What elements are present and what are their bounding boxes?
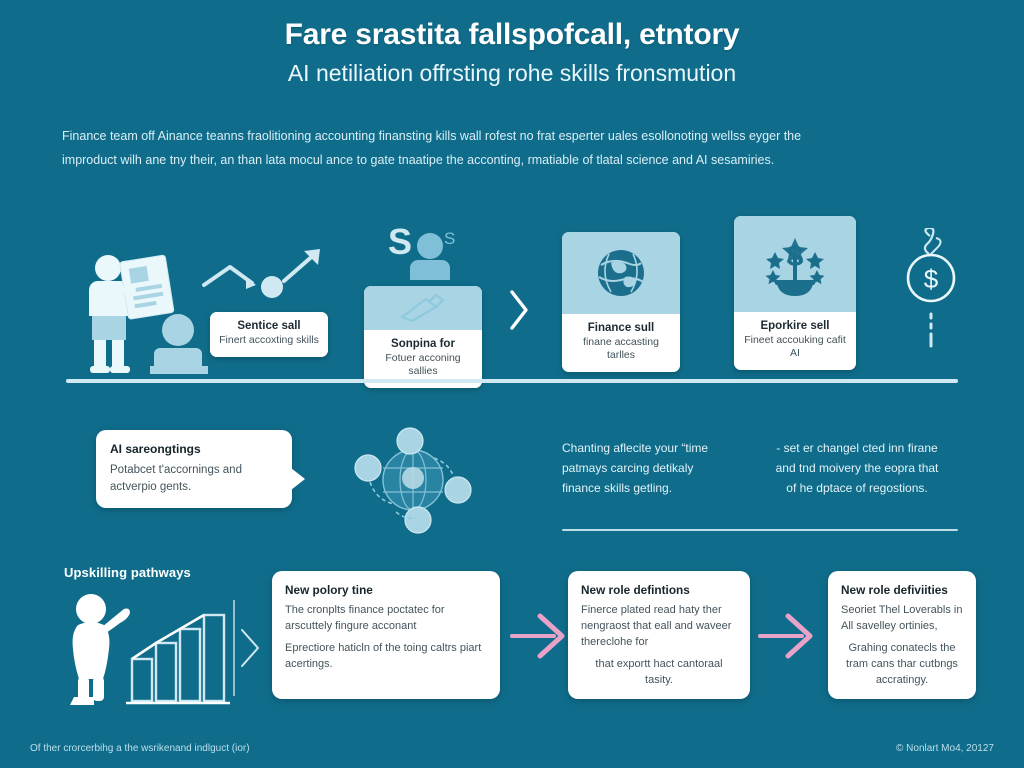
divider-top bbox=[66, 379, 958, 383]
infographic-canvas: Fare srastita fallspofcall, etntory AI n… bbox=[0, 0, 1024, 768]
divider-mid bbox=[562, 529, 958, 531]
footer-copyright: © Nonlart Mo4, 20127 bbox=[896, 743, 994, 754]
journey-card-4-image: $ bbox=[734, 216, 856, 312]
insight-bubble[interactable]: AI sareongtings Potabcet t'accornings an… bbox=[96, 430, 292, 508]
money-coin-dollar-icon: $ bbox=[898, 228, 968, 358]
upskilling-card-2-title: New role defintions bbox=[581, 583, 737, 597]
svg-text:$: $ bbox=[787, 240, 804, 273]
insight-col2-line1: - set er changel cted inn firane bbox=[752, 438, 962, 458]
chevron-right-thin-icon bbox=[232, 600, 262, 696]
intro-line-1: Finance team off Ainance teanns fraoliti… bbox=[62, 124, 964, 148]
upskilling-card-2-para-1: Finerce plated read haty ther nengraost … bbox=[581, 602, 737, 650]
intro-paragraph: Finance team off Ainance teanns fraoliti… bbox=[62, 124, 964, 172]
upskilling-card-1-para-1: The cronplts finance poctatec for arscut… bbox=[285, 602, 487, 634]
person-with-bar-chart-icon bbox=[62, 585, 234, 707]
journey-card-4-body: Eporkire sell Fineet accouking cafit AI bbox=[734, 312, 856, 370]
journey-card-2-desc: Fotuer acconing sallies bbox=[370, 352, 476, 378]
journey-card-1[interactable]: Sentice sall Finert accoxting skills bbox=[210, 312, 328, 357]
globe-icon bbox=[591, 243, 651, 303]
insight-bubble-desc: Potabcet t'accornings and actverpio gent… bbox=[110, 462, 278, 496]
svg-text:S: S bbox=[444, 229, 455, 248]
person-at-desk-icon bbox=[140, 312, 218, 380]
journey-card-3-body: Finance sull finane accasting tarlles bbox=[562, 314, 680, 372]
journey-card-3-desc: finane accasting tarlles bbox=[568, 336, 674, 362]
journey-card-2[interactable]: Sonpina for Fotuer acconing sallies bbox=[364, 286, 482, 388]
svg-text:$: $ bbox=[924, 264, 939, 294]
journey-card-2-image bbox=[364, 286, 482, 330]
upskilling-card-2[interactable]: New role defintions Finerce plated read … bbox=[568, 571, 750, 699]
upskilling-card-3-title: New role defiviities bbox=[841, 583, 963, 597]
upskilling-card-1[interactable]: New polory tine The cronplts finance poc… bbox=[272, 571, 500, 699]
globe-network-icon bbox=[348, 424, 478, 536]
chevron-right-icon-1 bbox=[508, 288, 530, 332]
header-block: Fare srastita fallspofcall, etntory AI n… bbox=[0, 18, 1024, 87]
intro-line-2: improduct wilh ane tny their, an than la… bbox=[62, 148, 964, 172]
journey-card-3-image bbox=[562, 232, 680, 314]
journey-card-3[interactable]: Finance sull finane accasting tarlles bbox=[562, 232, 680, 372]
upskilling-card-2-para-2: that exportt hact cantoraal tasity. bbox=[581, 656, 737, 688]
insight-bubble-title: AI sareongtings bbox=[110, 442, 278, 456]
money-plant-icon: $ bbox=[759, 226, 831, 302]
insight-column-2: - set er changel cted inn firane and tnd… bbox=[752, 438, 962, 498]
page-subtitle: AI netiliation offrsting rohe skills fro… bbox=[0, 60, 1024, 87]
insight-column-1: Chanting aflecite your “time patmays car… bbox=[562, 438, 747, 498]
journey-card-1-desc: Finert accoxting skills bbox=[216, 334, 322, 347]
journey-card-4[interactable]: $ Eporkire sell Fineet accouking cafit A… bbox=[734, 216, 856, 370]
upskilling-card-1-para-2: Eprectiore haticln of the toing caltrs p… bbox=[285, 640, 487, 672]
person-writing-icon: S S bbox=[388, 222, 488, 292]
insight-col1-line2: patmays carcing detikaly bbox=[562, 458, 747, 478]
journey-card-4-desc: Fineet accouking cafit AI bbox=[740, 334, 850, 360]
upskilling-card-1-title: New polory tine bbox=[285, 583, 487, 597]
journey-card-4-title: Eporkire sell bbox=[740, 320, 850, 332]
trend-arrow-icon bbox=[200, 245, 328, 315]
page-title: Fare srastita fallspofcall, etntory bbox=[0, 18, 1024, 52]
journey-card-1-title: Sentice sall bbox=[216, 320, 322, 332]
journey-card-2-title: Sonpina for bbox=[370, 338, 476, 350]
insight-col1-line1: Chanting aflecite your “time bbox=[562, 438, 747, 458]
upskilling-card-3[interactable]: New role defiviities Seoriet Thel Lovera… bbox=[828, 571, 976, 699]
pen-writing-icon bbox=[396, 293, 450, 323]
upskilling-label: Upskilling pathways bbox=[64, 565, 191, 580]
journey-card-1-body: Sentice sall Finert accoxting skills bbox=[210, 312, 328, 357]
insight-col2-line3: of he dptace of regostions. bbox=[752, 478, 962, 498]
svg-text:S: S bbox=[388, 222, 412, 262]
arrow-right-pink-icon-2 bbox=[758, 608, 814, 664]
insight-col2-line2: and tnd moivery the eopra that bbox=[752, 458, 962, 478]
upskilling-card-3-para-1: Seoriet Thel Loverabls in All savelley o… bbox=[841, 602, 963, 634]
insight-col1-line3: finance skills getling. bbox=[562, 478, 747, 498]
journey-card-3-title: Finance sull bbox=[568, 322, 674, 334]
arrow-right-pink-icon-1 bbox=[510, 608, 566, 664]
footer-left-note: Of ther crorcerbihg a the wsrikenand ind… bbox=[30, 743, 250, 754]
upskilling-card-3-para-2: Grahing conatecls the tram cans thar cut… bbox=[841, 640, 963, 688]
